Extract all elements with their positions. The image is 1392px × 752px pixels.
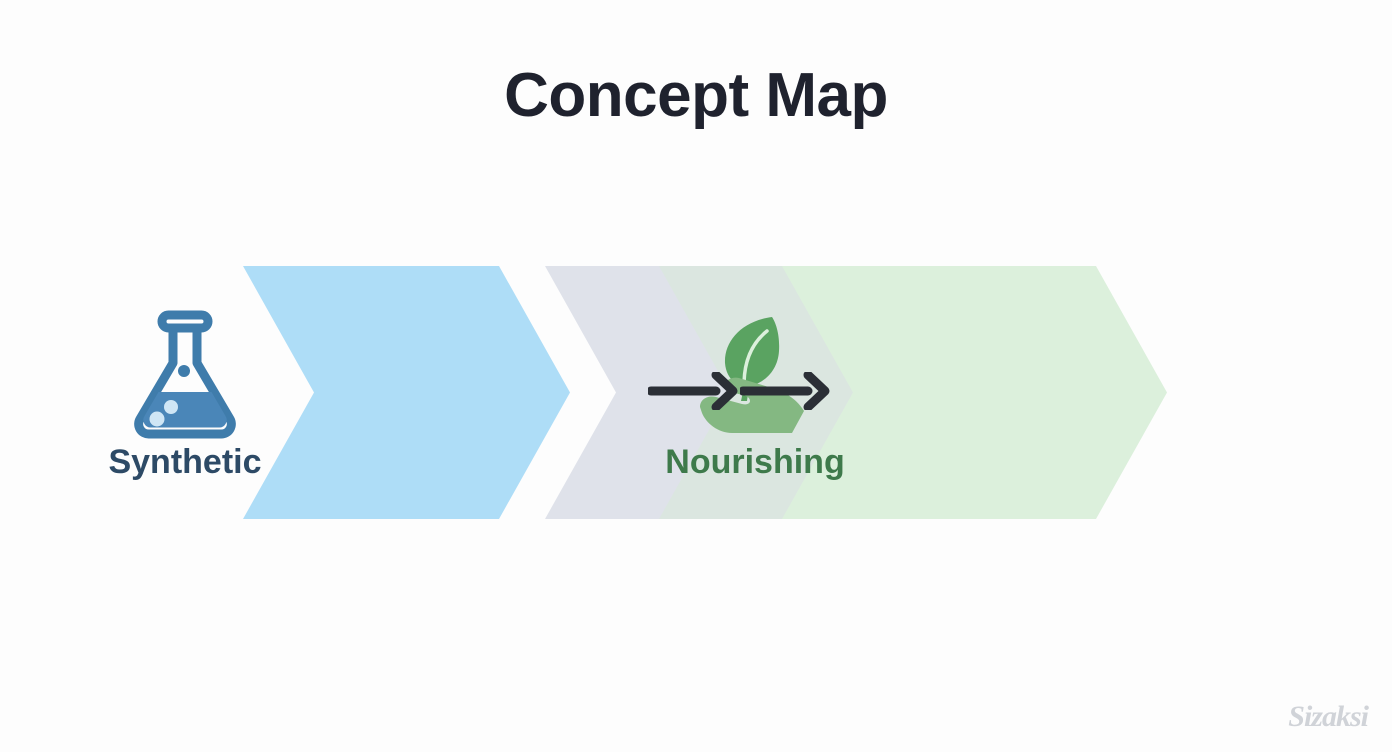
flask-icon [126,307,244,439]
watermark-text: Sizaksi [1258,696,1368,738]
page-title: Concept Map [0,62,1392,130]
chevron-shape-synthetic [237,266,570,519]
watermark: Sizaksi [1258,696,1368,738]
chevron-stage-synthetic[interactable] [237,266,570,519]
arrow-right-icon [648,372,744,410]
arrow-right-icon [740,372,836,410]
chevron-shape-nourishing [782,266,1167,519]
chevron-stage-nourishing[interactable] [782,266,1167,519]
diagram-canvas: Concept Map [0,0,1392,752]
